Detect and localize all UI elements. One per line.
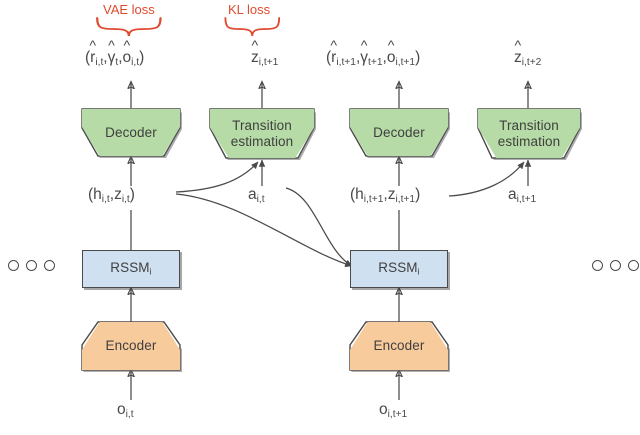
hat-accent: ^ [108, 39, 115, 53]
transition-label-line1: Transition [499, 118, 559, 133]
rssm-label: RSSMi [110, 260, 152, 277]
transition-estimation-node-t[interactable]: Transition estimation [210, 109, 314, 158]
output-reconstruction-t1: (^ri,t+1,^γt+1,^oi,t+1) [326, 49, 420, 68]
ellipsis-dot [610, 260, 621, 271]
encoder-node-t[interactable]: Encoder [82, 322, 180, 370]
encoder-label: Encoder [374, 338, 425, 353]
o-symbol: o [379, 401, 388, 418]
z-subscript: i,t+2 [522, 57, 542, 68]
curve-action-t-to-rssm-t1 [286, 188, 352, 266]
reward-subscript: i,t+1 [336, 57, 356, 68]
paren-close: ) [139, 49, 144, 66]
observation-label-t: oi,t [117, 401, 134, 420]
output-z-hat-t1: ^zi,t+1 [251, 49, 278, 68]
a-symbol: a [248, 186, 257, 203]
h-symbol: h [355, 186, 364, 203]
encoder-node-t1[interactable]: Encoder [350, 322, 448, 370]
state-tuple-t: (hi,t,zi,t) [88, 186, 135, 205]
hat-accent: ^ [252, 39, 259, 53]
gamma-subscript: t+1 [368, 57, 383, 68]
paren-close: ) [415, 186, 420, 203]
curve-state-t-to-transition [176, 162, 258, 192]
hat-accent: ^ [123, 39, 130, 53]
hat-accent: ^ [89, 39, 96, 53]
transition-label-line2: estimation [231, 134, 294, 149]
ellipsis-dot [592, 260, 603, 271]
paren-close: ) [130, 186, 135, 203]
z-symbol: z [114, 186, 122, 203]
z-subscript: i,t [122, 194, 130, 205]
decoder-label: Decoder [373, 125, 425, 140]
a-subscript: i,t [257, 194, 265, 205]
loss-label-vae: VAE loss [103, 2, 155, 17]
transition-label-line1: Transition [232, 118, 292, 133]
action-label-t1: ai,t+1 [508, 186, 536, 205]
ellipsis-dot [628, 260, 639, 271]
brace-vae-loss [97, 18, 160, 36]
rssm-node-t[interactable]: RSSMi [82, 250, 180, 288]
output-z-hat-t2: ^zi,t+2 [514, 49, 541, 68]
loss-braces [97, 18, 279, 36]
h-symbol: h [93, 186, 102, 203]
output-reconstruction-t: (^ri,t,^γt,^oi,t) [85, 49, 144, 68]
a-symbol: a [508, 186, 517, 203]
left-ellipsis [8, 260, 55, 271]
h-subscript: i,t [102, 194, 110, 205]
o-subscript: i,t [126, 409, 134, 420]
o-symbol: o [117, 401, 126, 418]
transition-label-line2: estimation [498, 134, 561, 149]
ellipsis-dot [26, 260, 37, 271]
transition-estimation-node-t1[interactable]: Transition estimation [478, 109, 580, 158]
ellipsis-dot [44, 260, 55, 271]
z-subscript: i,t+1 [395, 194, 415, 205]
action-label-t: ai,t [248, 186, 265, 205]
decoder-node-t1[interactable]: Decoder [350, 109, 448, 156]
hat-accent: ^ [388, 39, 395, 53]
obs-subscript: i,t [131, 57, 139, 68]
encoder-label: Encoder [106, 338, 157, 353]
paren-close: ) [415, 49, 420, 66]
rssm-label: RSSMi [378, 260, 420, 277]
observation-label-t1: oi,t+1 [379, 401, 407, 420]
o-subscript: i,t+1 [388, 409, 408, 420]
rssm-subscript: i [418, 267, 420, 277]
loss-label-kl: KL loss [228, 2, 270, 17]
right-ellipsis [592, 260, 639, 271]
ellipsis-dot [8, 260, 19, 271]
decoder-node-t[interactable]: Decoder [82, 109, 180, 156]
h-subscript: i,t+1 [364, 194, 384, 205]
brace-kl-loss [225, 18, 279, 36]
rssm-subscript: i [150, 267, 152, 277]
obs-subscript: i,t+1 [395, 57, 415, 68]
diagram-canvas: VAE loss KL loss (^ri,t,^γt,^oi,t) ^zi,t… [0, 0, 640, 435]
hat-accent: ^ [361, 39, 368, 53]
hat-accent: ^ [515, 39, 522, 53]
decoder-label: Decoder [105, 125, 157, 140]
state-tuple-t1: (hi,t+1,zi,t+1) [350, 186, 420, 205]
hat-accent: ^ [330, 39, 337, 53]
z-subscript: i,t+1 [259, 57, 279, 68]
rssm-node-t1[interactable]: RSSMi [350, 250, 448, 288]
a-subscript: i,t+1 [517, 194, 537, 205]
